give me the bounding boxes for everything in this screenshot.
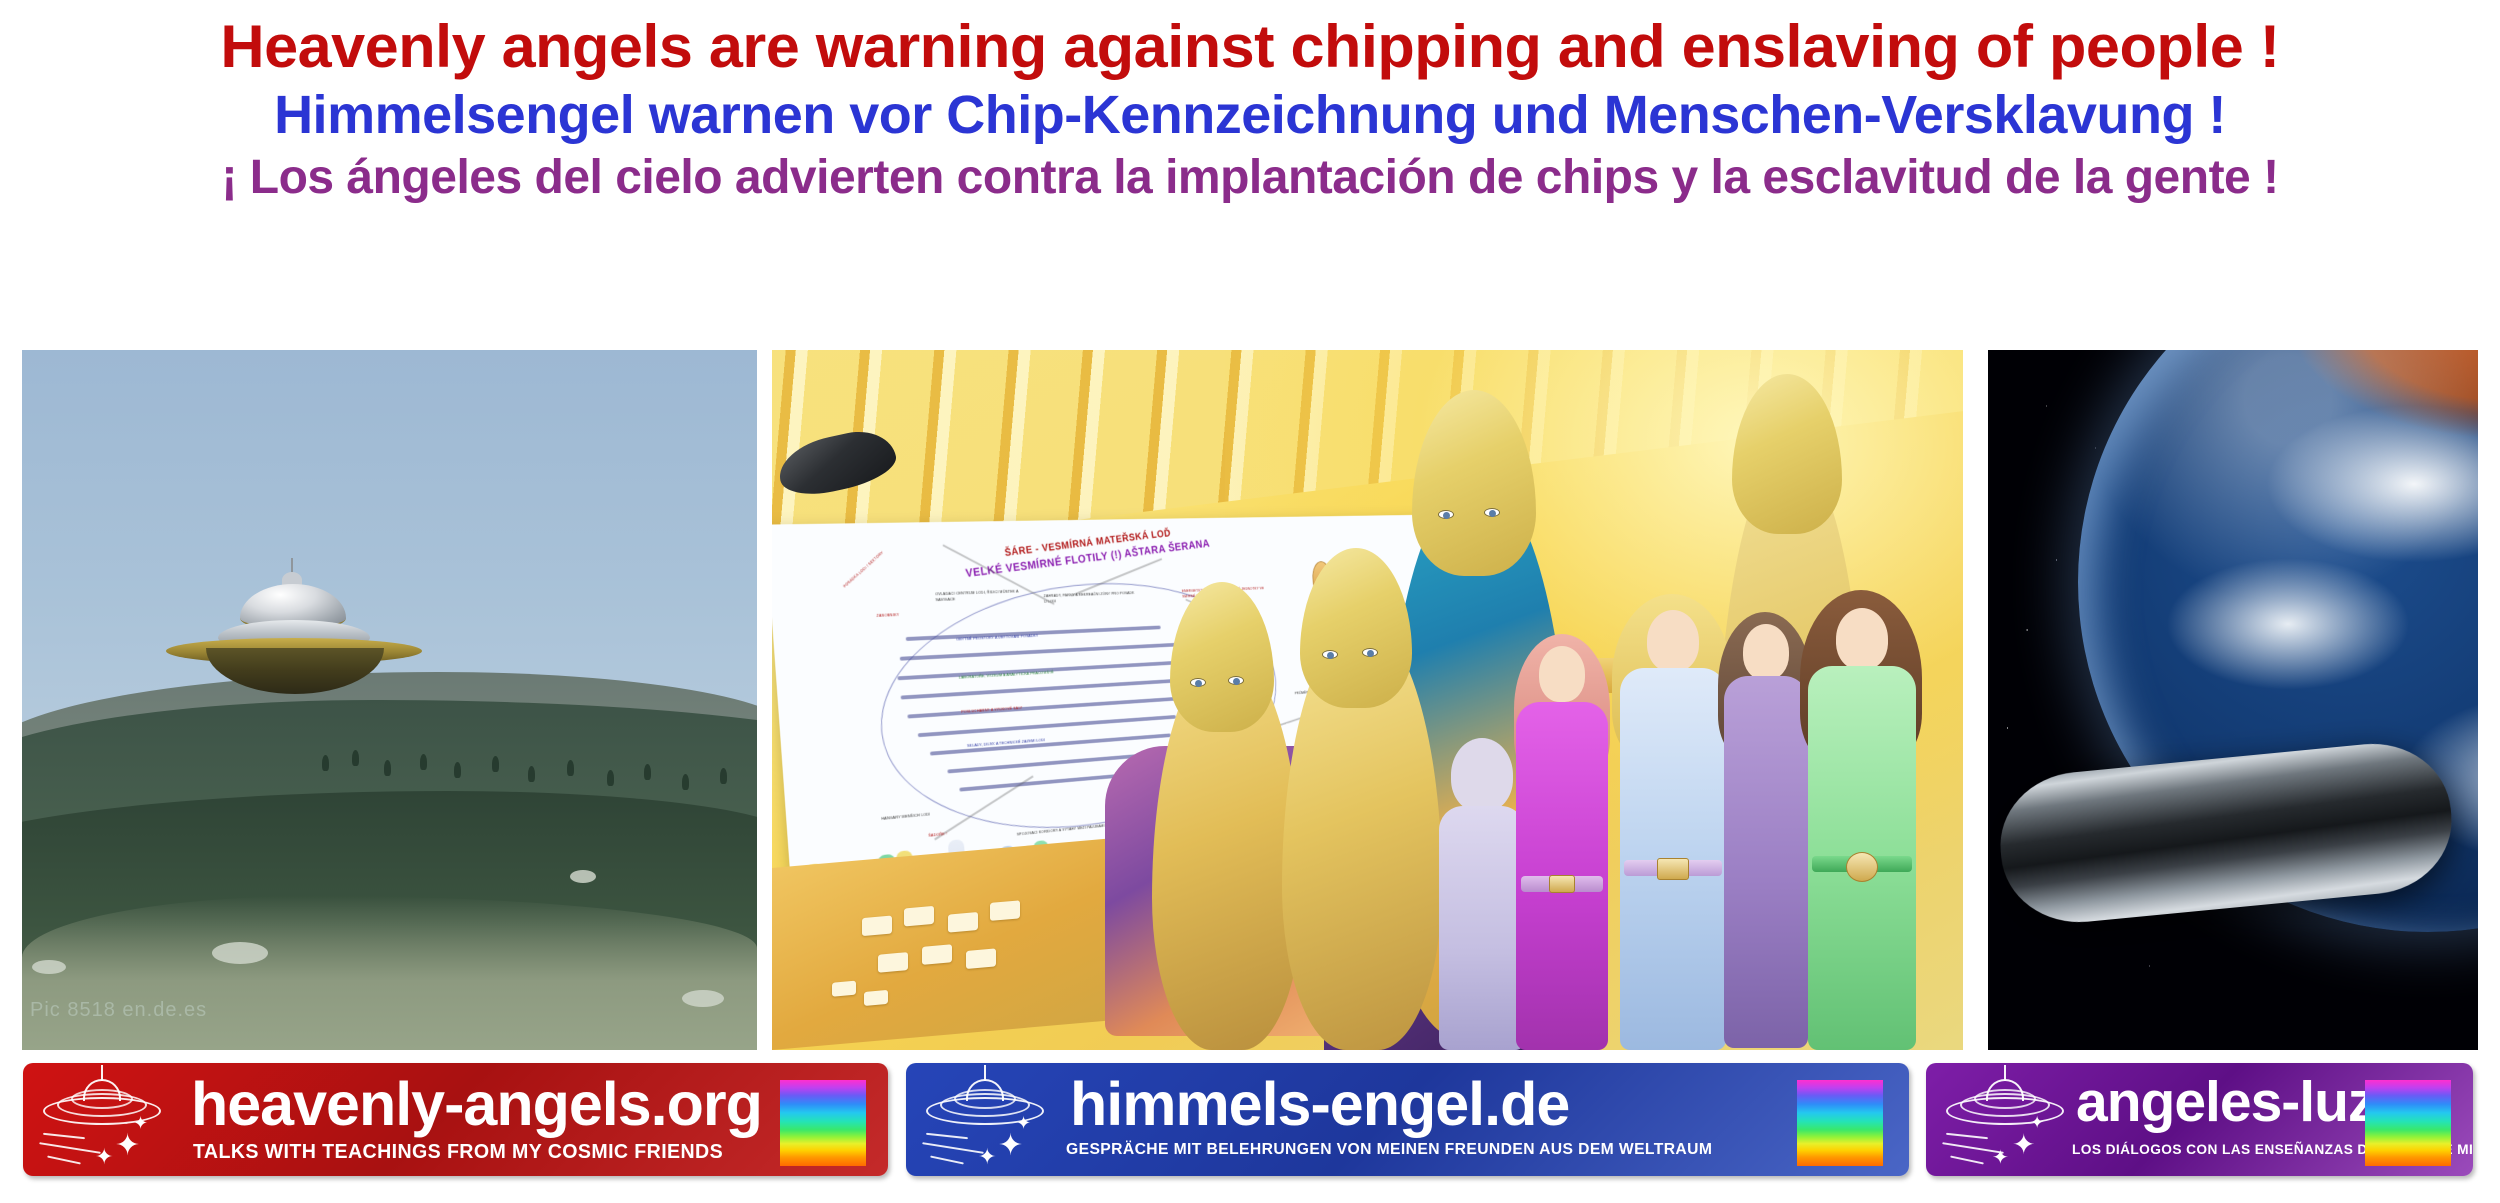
tree (682, 774, 689, 790)
motion-streak (1946, 1133, 1988, 1139)
flying-saucer-logo-icon: ✦ ✦ ✦ (1940, 1069, 2082, 1169)
motion-streak (47, 1155, 81, 1164)
spacecraft-interior-illustration: ŠÁRE - VESMÍRNÁ MATEŘSKÁ LOĎ VELKÉ VESMÍ… (772, 350, 1963, 1050)
banner-domain-label[interactable]: heavenly-angels.org (191, 1069, 762, 1139)
banner-angeles-luz-es[interactable]: ✦ ✦ ✦ angeles-luz.es LOS DIÁLOGOS CON LA… (1926, 1063, 2473, 1176)
belt-buckle (1846, 852, 1878, 882)
motion-streak (922, 1142, 984, 1154)
headline-spanish: ¡ Los ángeles del cielo advierten contra… (0, 150, 2500, 205)
rainbow-gradient-swatch (780, 1080, 866, 1166)
banner-subtitle: TALKS WITH TEACHINGS FROM MY COSMIC FRIE… (193, 1141, 723, 1164)
motion-streak (926, 1133, 968, 1139)
belt-buckle (1549, 875, 1575, 893)
sparkle-star-icon: ✦ (2030, 1115, 2044, 1132)
snow-patch (570, 870, 596, 883)
motion-streak (1950, 1155, 1984, 1164)
woman-blue-suit (1614, 602, 1732, 1050)
tree (528, 766, 535, 782)
saucer-shape (1946, 1081, 2064, 1127)
rainbow-gradient-swatch (2365, 1080, 2451, 1166)
belt-buckle (1657, 858, 1689, 880)
flying-saucer-logo-icon: ✦ ✦ ✦ (920, 1069, 1062, 1169)
sparkle-star-icon: ✦ (2012, 1131, 2035, 1159)
face (1647, 610, 1699, 672)
tree (607, 770, 614, 786)
snow-patch (682, 990, 724, 1007)
sparkle-star-icon: ✦ (1016, 1115, 1031, 1133)
poster-annotation: HANGÁRY MENŠÍCH LODÍ (881, 809, 954, 822)
sparkle-star-icon: ✦ (115, 1131, 140, 1161)
console-key (904, 906, 934, 927)
poster-page: Heavenly angels are warning against chip… (0, 0, 2500, 1203)
console-key (990, 900, 1020, 921)
face (1743, 624, 1789, 680)
sparkle-star-icon: ✦ (998, 1131, 1023, 1161)
tree (492, 756, 499, 772)
face (1539, 646, 1585, 702)
grass-slope (22, 896, 757, 1050)
sparkle-star-icon: ✦ (1992, 1147, 2009, 1167)
tree (720, 768, 727, 784)
console-key (864, 990, 888, 1006)
console-key (948, 912, 978, 933)
headline-german: Himmelsengel warnen vor Chip-Kennzeichnu… (0, 84, 2500, 146)
headline-english: Heavenly angels are warning against chip… (0, 12, 2500, 81)
tree (384, 760, 391, 776)
rainbow-gradient-swatch (1797, 1080, 1883, 1166)
being-eye (1362, 648, 1378, 657)
flying-saucer (162, 580, 424, 710)
console-key (878, 952, 908, 973)
snow-patch (32, 960, 66, 974)
grey-being-head (1451, 738, 1513, 812)
face (1836, 608, 1888, 670)
poster-annotation: ZÁSOBNÍKY (876, 611, 922, 619)
woman-magenta-suit (1512, 640, 1612, 1050)
poster-title: ŠÁRE - VESMÍRNÁ MATEŘSKÁ LOĎ VELKÉ VESMÍ… (944, 521, 1226, 584)
motion-streak (930, 1155, 964, 1164)
tree (454, 762, 461, 778)
tree (420, 754, 427, 770)
tree (322, 755, 329, 771)
saucer-lower-hull (206, 648, 384, 694)
being-eye (1228, 676, 1244, 685)
being-eye (1190, 678, 1206, 687)
banner-domain-label[interactable]: himmels-engel.de (1070, 1069, 1569, 1139)
tree (352, 750, 359, 766)
console-key (922, 944, 952, 965)
sparkle-star-icon: ✦ (978, 1147, 996, 1169)
sparkle-star-icon: ✦ (133, 1115, 148, 1133)
console-key (832, 981, 856, 997)
banner-heavenly-angels-org[interactable]: ✦ ✦ ✦ heavenly-angels.org TALKS WITH TEA… (23, 1063, 888, 1176)
being-eye (1438, 510, 1454, 519)
console-key (966, 948, 996, 969)
snow-patch (212, 942, 268, 964)
tree (567, 760, 574, 776)
woman-green-suit (1802, 598, 1922, 1050)
saucer-ring-outer (1946, 1097, 2064, 1125)
suit (1724, 676, 1808, 1048)
being-eye (1484, 508, 1500, 517)
banner-himmels-engel-de[interactable]: ✦ ✦ ✦ himmels-engel.de GESPRÄCHE MIT BEL… (906, 1063, 1909, 1176)
being-eye (1322, 650, 1338, 659)
ufo-over-hills-photo: Pic 8518 en.de.es (22, 350, 757, 1050)
earth-from-space-photo (1988, 350, 2478, 1050)
sparkle-star-icon: ✦ (95, 1147, 113, 1169)
banner-subtitle: GESPRÄCHE MIT BELEHRUNGEN VON MEINEN FRE… (1066, 1141, 1712, 1159)
poster-annotation: POSÁDKA LODI / SEKTORY (842, 541, 894, 589)
tree (644, 764, 651, 780)
console-key (862, 916, 892, 937)
flying-saucer-logo-icon: ✦ ✦ ✦ (37, 1069, 179, 1169)
motion-streak (43, 1133, 85, 1139)
motion-streak (39, 1142, 101, 1154)
